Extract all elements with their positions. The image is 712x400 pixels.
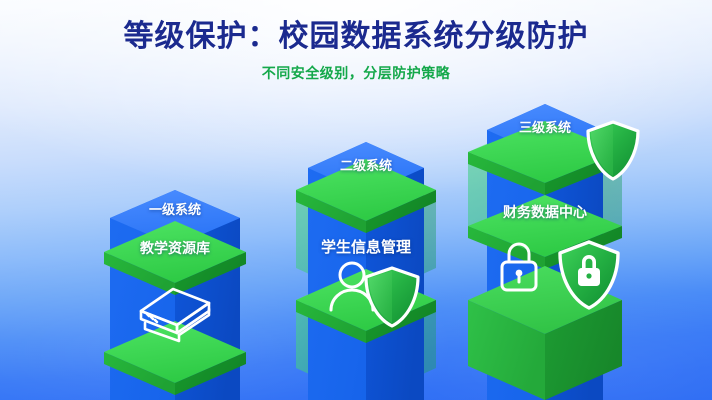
- tower-level-1[interactable]: [104, 190, 246, 400]
- tower-level-3[interactable]: [468, 104, 638, 400]
- header: 等级保护：校园数据系统分级防护 不同安全级别，分层防护策略: [0, 20, 712, 83]
- page-subtitle: 不同安全级别，分层防护策略: [0, 63, 712, 83]
- page-title: 等级保护：校园数据系统分级防护: [0, 20, 712, 53]
- tower-level-2[interactable]: [296, 142, 436, 400]
- slide-canvas: 等级保护：校园数据系统分级防护 不同安全级别，分层防护策略: [0, 0, 712, 400]
